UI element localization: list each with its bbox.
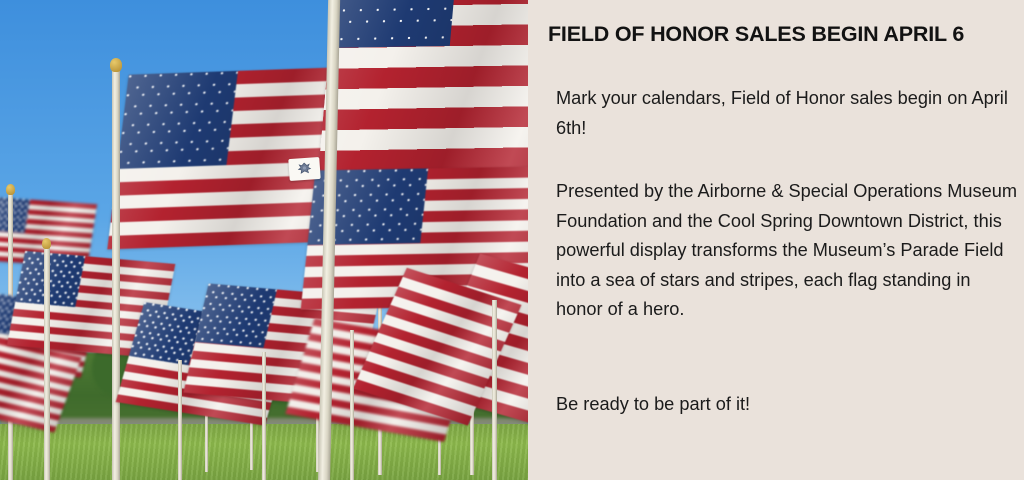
eagle-emblem-icon	[295, 160, 313, 177]
paragraph-details: Presented by the Airborne & Special Oper…	[556, 177, 1018, 325]
paragraph-announcement: Mark your calendars, Field of Honor sale…	[556, 84, 1018, 143]
american-flag	[318, 0, 528, 171]
page-title: FIELD OF HONOR SALES BEGIN APRIL 6	[548, 22, 1018, 48]
memorial-tag	[288, 157, 320, 181]
paragraph-call-to-action: Be ready to be part of it!	[556, 390, 1018, 420]
pole-cap	[6, 184, 15, 195]
description-block-3: Be ready to be part of it!	[556, 390, 1018, 420]
flag-pole	[112, 68, 120, 480]
description-block-1: Mark your calendars, Field of Honor sale…	[556, 84, 1018, 143]
pole-cap	[110, 58, 122, 72]
description-block-2: Presented by the Airborne & Special Oper…	[556, 177, 1018, 325]
pole-cap	[42, 238, 51, 249]
flag-pole	[492, 300, 497, 480]
flag-pole	[178, 360, 182, 480]
flag-pole	[350, 330, 354, 480]
flag-field-photo	[0, 0, 528, 480]
flag-pole	[44, 246, 50, 480]
text-panel: FIELD OF HONOR SALES BEGIN APRIL 6 Mark …	[528, 0, 1024, 480]
promo-card: FIELD OF HONOR SALES BEGIN APRIL 6 Mark …	[0, 0, 1024, 480]
flag-pole	[262, 352, 266, 480]
